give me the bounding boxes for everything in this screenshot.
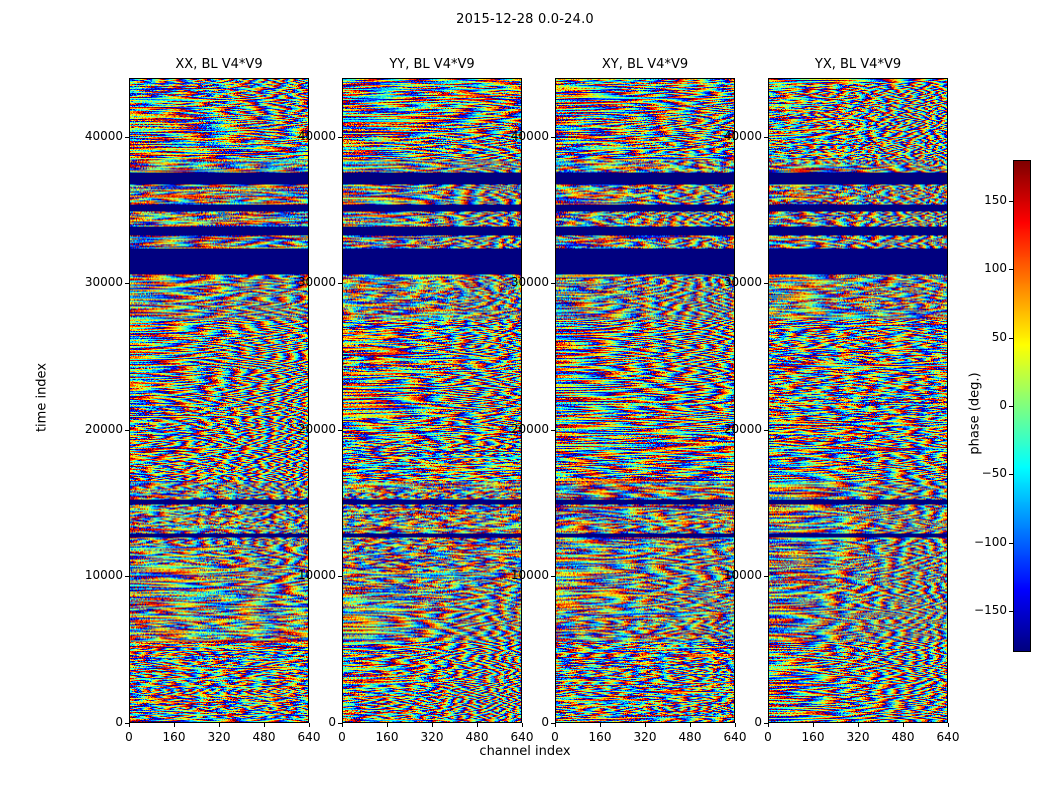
x-tick-label: 160: [149, 730, 199, 744]
y-tickmark: [764, 283, 768, 284]
y-tickmark: [338, 283, 342, 284]
x-tickmark: [768, 723, 769, 727]
y-tickmark: [338, 723, 342, 724]
y-tick-label: 30000: [280, 275, 336, 289]
figure-canvas: 2015-12-28 0.0-24.0 XX, BL V4*V9 YY, BL …: [0, 0, 1050, 800]
colorbar-tick-label: 100: [955, 261, 1007, 275]
x-tickmark: [690, 723, 691, 727]
y-tickmark: [551, 430, 555, 431]
colorbar[interactable]: [1013, 160, 1031, 652]
y-tickmark: [764, 137, 768, 138]
y-tickmark: [551, 576, 555, 577]
x-tickmark: [858, 723, 859, 727]
y-tick-label: 0: [493, 715, 549, 729]
y-tickmark: [125, 576, 129, 577]
colorbar-tick-label: −50: [955, 466, 1007, 480]
colorbar-tick-label: 150: [955, 193, 1007, 207]
x-axis-label: channel index: [0, 744, 1050, 759]
y-tick-label: 0: [280, 715, 336, 729]
x-tickmark: [219, 723, 220, 727]
y-tick-label: 40000: [493, 129, 549, 143]
y-tickmark: [764, 723, 768, 724]
panel-title-xy: XY, BL V4*V9: [555, 57, 735, 72]
x-tick-label: 0: [104, 730, 154, 744]
colorbar-tickmark: [1009, 611, 1013, 612]
y-tick-label: 20000: [280, 422, 336, 436]
y-tickmark: [551, 283, 555, 284]
y-tick-label: 10000: [493, 568, 549, 582]
x-tick-label: 160: [575, 730, 625, 744]
x-tickmark: [600, 723, 601, 727]
colorbar-tickmark: [1009, 201, 1013, 202]
colorbar-tickmark: [1009, 338, 1013, 339]
x-tickmark: [477, 723, 478, 727]
x-tickmark: [432, 723, 433, 727]
y-tick-label: 40000: [706, 129, 762, 143]
y-tickmark: [125, 283, 129, 284]
y-tickmark: [764, 576, 768, 577]
x-tick-label: 160: [788, 730, 838, 744]
y-tickmark: [338, 430, 342, 431]
x-tickmark: [555, 723, 556, 727]
colorbar-tick-label: 50: [955, 330, 1007, 344]
figure-suptitle: 2015-12-28 0.0-24.0: [0, 12, 1050, 27]
y-tick-label: 40000: [67, 129, 123, 143]
colorbar-tick-label: 0: [955, 398, 1007, 412]
heatmap-panel-xy[interactable]: [555, 78, 735, 723]
panel-title-yx: YX, BL V4*V9: [768, 57, 948, 72]
y-axis-label: time index: [35, 358, 50, 438]
x-tick-label: 0: [317, 730, 367, 744]
y-tickmark: [338, 576, 342, 577]
y-tick-label: 10000: [280, 568, 336, 582]
x-tickmark: [387, 723, 388, 727]
y-tickmark: [125, 137, 129, 138]
y-tick-label: 30000: [67, 275, 123, 289]
y-tick-label: 0: [67, 715, 123, 729]
y-tickmark: [551, 723, 555, 724]
y-tickmark: [764, 430, 768, 431]
x-tick-label: 0: [743, 730, 793, 744]
x-tick-label: 320: [833, 730, 883, 744]
colorbar-tickmark: [1009, 543, 1013, 544]
x-tickmark: [813, 723, 814, 727]
x-tick-label: 320: [620, 730, 670, 744]
x-tickmark: [645, 723, 646, 727]
x-tickmark: [948, 723, 949, 727]
x-tick-label: 480: [665, 730, 715, 744]
colorbar-label: phase (deg.): [968, 354, 983, 474]
x-tick-label: 480: [239, 730, 289, 744]
y-tick-label: 10000: [67, 568, 123, 582]
y-tickmark: [338, 137, 342, 138]
y-tick-label: 40000: [280, 129, 336, 143]
y-tick-label: 30000: [706, 275, 762, 289]
x-tickmark: [342, 723, 343, 727]
heatmap-panel-yx[interactable]: [768, 78, 948, 723]
y-tick-label: 30000: [493, 275, 549, 289]
heatmap-panel-xx[interactable]: [129, 78, 309, 723]
x-tick-label: 480: [878, 730, 928, 744]
y-tick-label: 20000: [67, 422, 123, 436]
colorbar-tickmark: [1009, 269, 1013, 270]
colorbar-tick-label: −150: [955, 603, 1007, 617]
x-tick-label: 640: [923, 730, 973, 744]
x-tickmark: [174, 723, 175, 727]
colorbar-tickmark: [1009, 406, 1013, 407]
x-tick-label: 320: [407, 730, 457, 744]
y-tickmark: [125, 430, 129, 431]
y-tick-label: 20000: [706, 422, 762, 436]
colorbar-tickmark: [1009, 474, 1013, 475]
x-tick-label: 0: [530, 730, 580, 744]
colorbar-tick-label: −100: [955, 535, 1007, 549]
x-tick-label: 160: [362, 730, 412, 744]
x-tick-label: 320: [194, 730, 244, 744]
y-tick-label: 10000: [706, 568, 762, 582]
panel-title-yy: YY, BL V4*V9: [342, 57, 522, 72]
y-tick-label: 20000: [493, 422, 549, 436]
y-tick-label: 0: [706, 715, 762, 729]
x-tickmark: [129, 723, 130, 727]
x-tickmark: [903, 723, 904, 727]
heatmap-panel-yy[interactable]: [342, 78, 522, 723]
panel-title-xx: XX, BL V4*V9: [129, 57, 309, 72]
x-tick-label: 480: [452, 730, 502, 744]
y-tickmark: [125, 723, 129, 724]
y-tickmark: [551, 137, 555, 138]
x-tickmark: [264, 723, 265, 727]
